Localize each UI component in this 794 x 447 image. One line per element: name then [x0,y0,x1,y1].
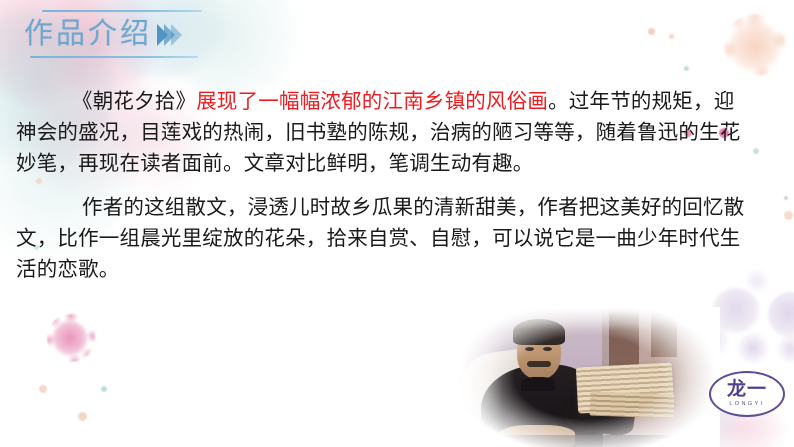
title-row: 作品介绍 [22,12,212,54]
dot-peach-left-lower [39,385,47,393]
dot-peach-bottom [78,412,87,421]
page-title: 作品介绍 [22,19,152,48]
dot-teal-right-mid [753,148,759,154]
watercolor-blob-right-purple-4 [776,334,794,364]
body-text: 《朝花夕拾》展现了一幅幅浓郁的江南乡镇的风俗画。过年节的规矩，迎神会的盛况，目莲… [16,86,746,285]
photo-subject-collar [521,377,555,391]
chevron-right-triple-icon [161,24,182,46]
splatter-spikes-top-right [724,14,786,76]
splatter-spikes-bottom-left [47,314,95,362]
photo-subject-moustache [527,361,551,367]
photo-furniture-dark [609,307,639,371]
slide-root: 作品介绍 《朝花夕拾》展现了一幅幅浓郁的江南乡镇的风俗画。过年节的规矩，迎神会的… [0,0,794,447]
photo-scene [455,307,720,447]
watercolor-blob-right-purple-2 [768,292,794,338]
watercolor-blob-right-purple-6 [744,268,770,294]
title-rule-bottom [30,56,198,58]
photo-table [455,435,720,447]
photo-furniture-dark-2 [651,307,677,357]
dot-peach-top-right-b [669,34,674,39]
dot-peach-top-right-a [648,28,655,35]
photo-subject-eye-left [525,347,534,351]
photo-stacked-papers-2 [590,392,675,419]
dot-grey-right [784,196,788,200]
book-title-text: 《朝花夕拾》 [72,89,196,113]
photo-subject-eye-right [543,347,552,351]
dot-peach-right-lower [784,211,793,220]
watercolor-splash-bottom-left-pink [52,320,88,356]
highlighted-text: 展现了一幅幅浓郁的江南乡镇的风俗画 [196,89,548,113]
logo-latin-text: LONGYI [729,402,764,408]
watercolor-blob-right-purple-3 [736,332,770,364]
paragraph-2: 作者的这组散文，浸透儿时故乡瓜果的清新甜美，作者把这美好的回忆散文，比作一组晨光… [16,192,746,285]
dot-teal-left-lower [101,386,107,392]
lu-xun-photo [455,307,720,447]
section-title-block: 作品介绍 [22,10,212,58]
chevron-right-icon-3 [171,24,182,46]
longyi-logo: 龙一 LONGYI [709,371,785,417]
paragraph-1: 《朝花夕拾》展现了一幅幅浓郁的江南乡镇的风俗画。过年节的规矩，迎神会的盛况，目莲… [16,86,746,179]
watercolor-splash-top-right-peach [728,20,782,72]
dot-teal-top-right [684,66,689,71]
photo-subject-hair [513,319,565,345]
paragraph-2-text: 作者的这组散文，浸透儿时故乡瓜果的清新甜美，作者把这美好的回忆散文，比作一组晨光… [16,195,744,281]
logo-chinese-text: 龙一 [727,380,767,399]
